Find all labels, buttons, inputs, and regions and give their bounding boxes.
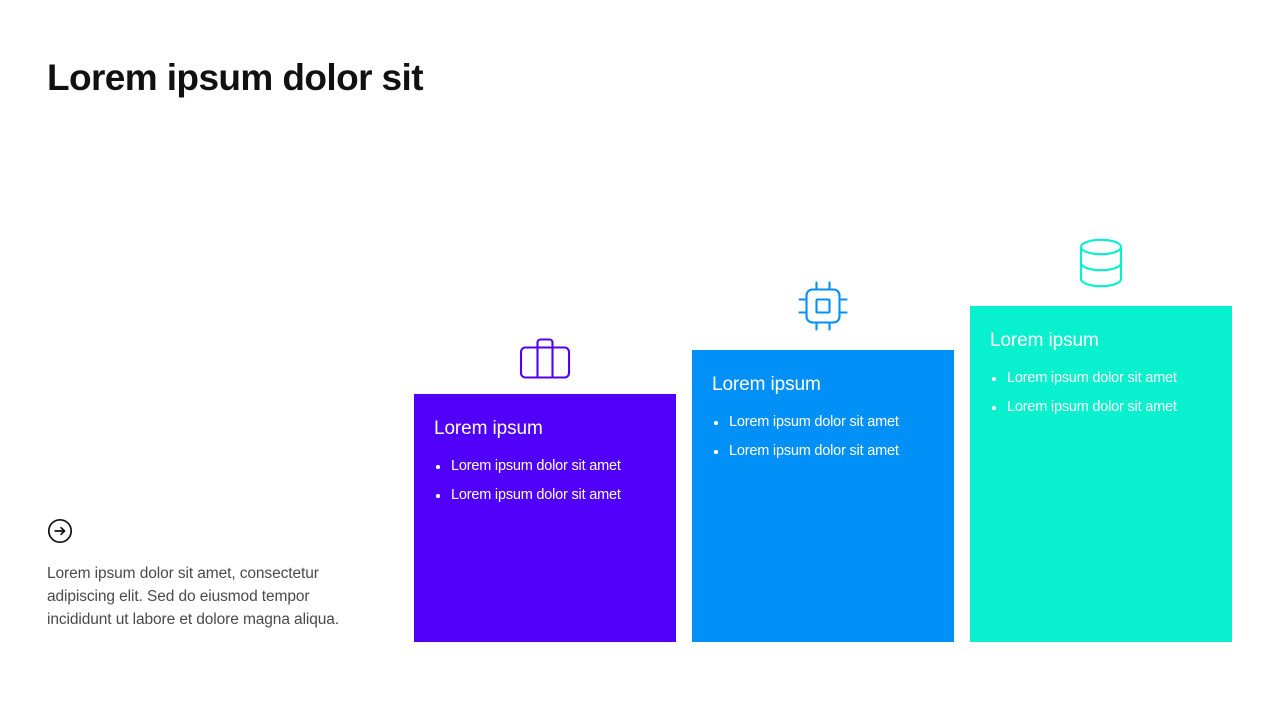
cpu-chip-icon [795, 278, 851, 334]
page-title: Lorem ipsum dolor sit [47, 55, 423, 101]
arrow-circle-right-icon [47, 518, 73, 544]
database-icon [1073, 234, 1129, 292]
intro-block: Lorem ipsum dolor sit amet, consectetur … [47, 518, 367, 631]
intro-paragraph: Lorem ipsum dolor sit amet, consectetur … [47, 562, 357, 631]
list-item: Lorem ipsum dolor sit amet [712, 437, 934, 466]
list-item: Lorem ipsum dolor sit amet [990, 393, 1212, 422]
list-item: Lorem ipsum dolor sit amet [434, 452, 656, 481]
card-bullet-list: Lorem ipsum dolor sit amet Lorem ipsum d… [990, 364, 1212, 422]
card-heading: Lorem ipsum [434, 416, 656, 442]
briefcase-icon [517, 330, 573, 386]
slide-canvas: Lorem ipsum dolor sit Lorem ipsum dolor … [0, 0, 1280, 720]
card-blue[interactable]: Lorem ipsum Lorem ipsum dolor sit amet L… [692, 350, 954, 642]
list-item: Lorem ipsum dolor sit amet [990, 364, 1212, 393]
list-item: Lorem ipsum dolor sit amet [434, 481, 656, 510]
card-teal[interactable]: Lorem ipsum Lorem ipsum dolor sit amet L… [970, 306, 1232, 642]
card-bullet-list: Lorem ipsum dolor sit amet Lorem ipsum d… [434, 452, 656, 510]
list-item: Lorem ipsum dolor sit amet [712, 408, 934, 437]
card-heading: Lorem ipsum [712, 372, 934, 398]
card-heading: Lorem ipsum [990, 328, 1212, 354]
card-bullet-list: Lorem ipsum dolor sit amet Lorem ipsum d… [712, 408, 934, 466]
card-purple[interactable]: Lorem ipsum Lorem ipsum dolor sit amet L… [414, 394, 676, 642]
